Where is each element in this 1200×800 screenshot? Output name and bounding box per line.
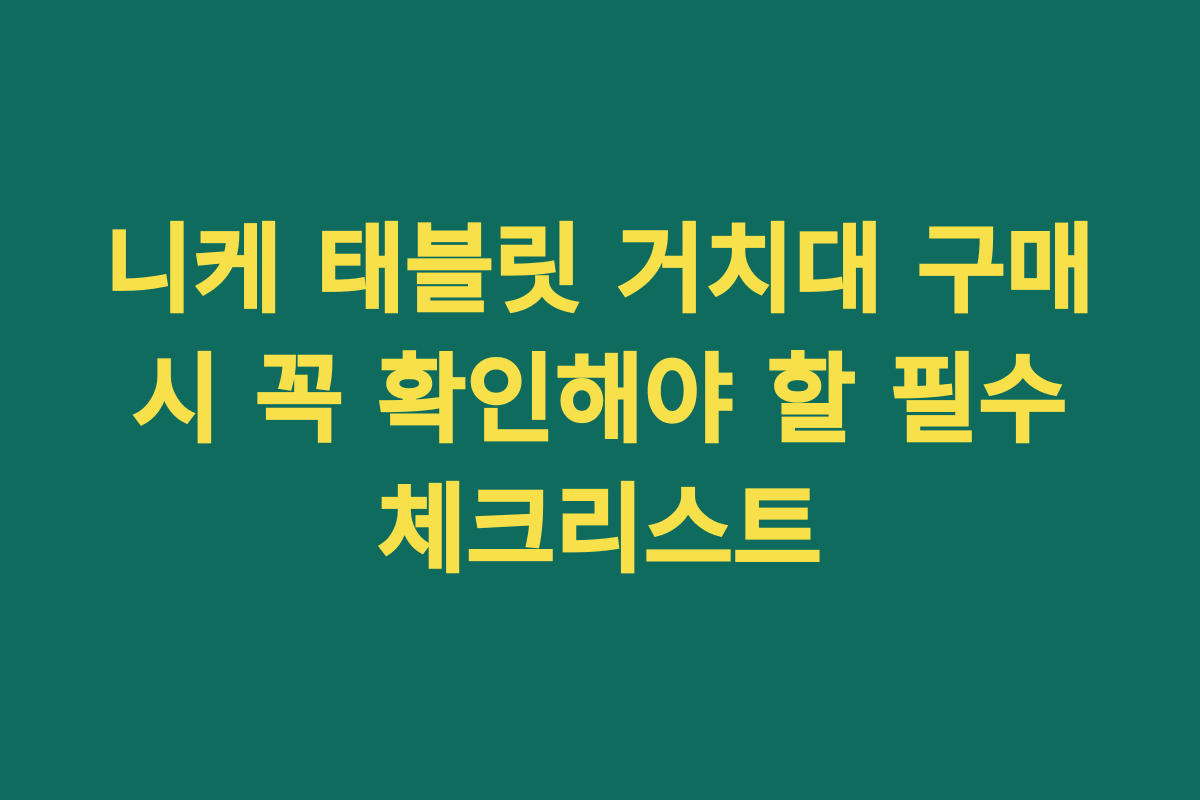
headline-line-2: 시 꼭 확인해야 할 필수 [132, 335, 1067, 465]
thumbnail-canvas: 니케 태블릿 거치대 구매 시 꼭 확인해야 할 필수 체크리스트 [0, 0, 1200, 800]
headline-line-1: 니케 태블릿 거치대 구매 [105, 205, 1095, 335]
headline-line-3: 체크리스트 [378, 465, 822, 595]
headline-block: 니케 태블릿 거치대 구매 시 꼭 확인해야 할 필수 체크리스트 [40, 205, 1160, 595]
